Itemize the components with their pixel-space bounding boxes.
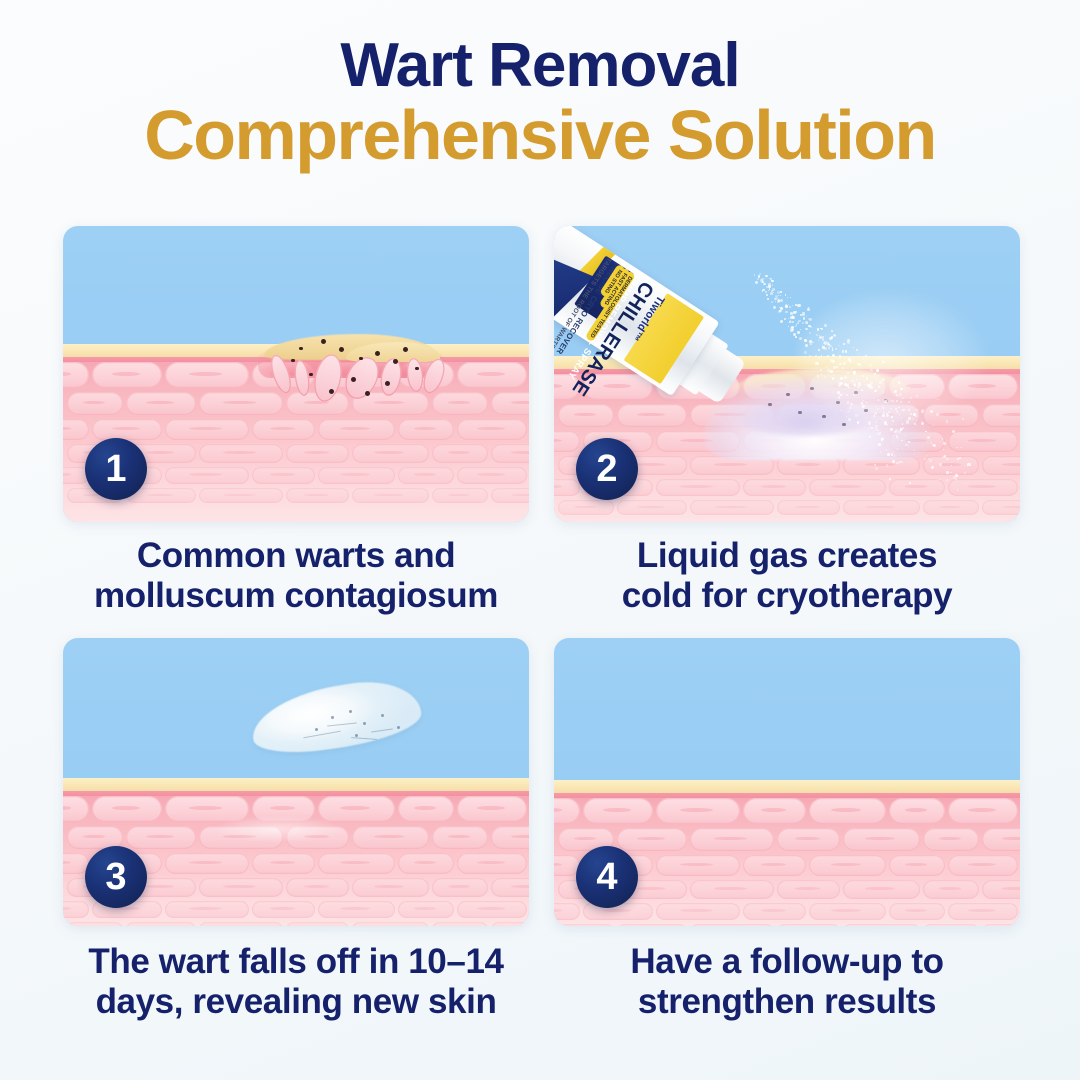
spray-particle — [896, 394, 898, 396]
spray-particle — [832, 377, 835, 380]
skin-cell — [398, 467, 454, 484]
skin-cell — [558, 500, 614, 515]
step-illustration-3: 3 — [63, 638, 529, 926]
spray-particle — [875, 467, 878, 470]
spray-particle — [762, 281, 764, 283]
spray-particle — [946, 420, 949, 423]
spray-particle — [878, 443, 881, 446]
skin-cell — [199, 444, 283, 463]
skin-cell — [617, 500, 687, 515]
spray-particle — [869, 364, 872, 367]
spray-particle — [883, 412, 885, 414]
skin-cell — [126, 392, 196, 415]
spray-particle — [840, 394, 842, 396]
spray-particle — [879, 408, 881, 410]
skin-cell — [252, 853, 315, 874]
steps-grid: 1 Common warts and molluscum contagiosum — [63, 226, 1020, 1022]
wart-capillary-dot — [359, 357, 363, 361]
spray-particle — [896, 400, 898, 402]
skin-cell — [432, 444, 488, 463]
skin-cell — [286, 878, 349, 897]
spray-particle — [897, 448, 898, 449]
spray-particle — [943, 449, 945, 451]
stratum-corneum-layer — [63, 778, 529, 791]
spray-particle — [858, 353, 859, 354]
spray-particle — [927, 436, 930, 439]
spray-particle — [773, 306, 776, 309]
skin-cell — [656, 479, 740, 496]
spray-particle — [937, 399, 938, 400]
skin-cell — [690, 500, 774, 515]
spray-particle — [908, 417, 911, 420]
skin-cell — [63, 901, 89, 918]
skin-cell — [809, 903, 886, 920]
skin-cell — [318, 796, 395, 822]
skin-cell — [352, 488, 429, 503]
spray-particle — [865, 355, 867, 357]
spray-particle — [890, 428, 893, 431]
wart-capillary-dot — [415, 367, 419, 371]
spray-particle — [847, 372, 849, 374]
spray-particle — [838, 384, 841, 387]
spray-particle — [791, 321, 793, 323]
scab-speck — [363, 722, 366, 725]
spray-particle — [878, 386, 880, 388]
spray-particle — [892, 460, 895, 463]
skin-cell — [491, 488, 529, 503]
skin-cell — [690, 924, 774, 926]
spray-particle — [910, 413, 912, 415]
spray-particle — [810, 343, 812, 345]
spray-particle — [757, 278, 759, 280]
skin-cell — [982, 880, 1020, 899]
spray-particle — [892, 420, 893, 421]
spray-particle — [901, 461, 903, 463]
spray-particle — [863, 400, 864, 401]
spray-particle — [762, 290, 763, 291]
wart-capillary-dot — [291, 359, 295, 363]
spray-particle — [858, 363, 861, 366]
spray-particle — [815, 362, 818, 365]
step-illustration-4: 4 — [554, 638, 1020, 926]
spray-particle — [802, 312, 805, 315]
spray-particle — [902, 409, 905, 412]
skin-cell — [63, 362, 89, 388]
skin-cell — [457, 901, 527, 918]
spray-particle — [809, 355, 811, 357]
skin-cell — [982, 828, 1020, 851]
spray-particle — [809, 332, 811, 334]
spray-particle — [842, 377, 843, 378]
skin-cell — [923, 880, 979, 899]
skin-cell — [318, 901, 395, 918]
spray-particle — [850, 403, 853, 406]
skin-cell — [558, 924, 614, 926]
skin-cell — [491, 922, 529, 926]
skin-cell — [199, 922, 283, 926]
spray-particle — [894, 431, 896, 433]
spray-particle — [838, 396, 841, 399]
step-number-badge-3: 3 — [85, 846, 147, 908]
spray-particle — [895, 408, 897, 410]
spray-particle — [967, 463, 970, 466]
scab-speck — [397, 726, 400, 729]
skin-cell — [554, 479, 580, 496]
skin-cell — [809, 798, 886, 824]
spray-particle — [884, 421, 887, 424]
skin-cell — [199, 488, 283, 503]
spray-particle — [929, 459, 932, 462]
spray-particle — [780, 320, 783, 323]
skin-cell — [126, 922, 196, 926]
skin-cell — [432, 826, 488, 849]
spray-particle — [959, 457, 961, 459]
spray-particle — [908, 409, 910, 411]
skin-cell-row — [67, 922, 529, 926]
spray-particle — [892, 400, 894, 402]
spray-particle — [851, 369, 853, 371]
spray-particle — [944, 455, 945, 456]
skin-cell — [948, 903, 1018, 920]
wart-capillary-dot — [329, 389, 334, 394]
spray-particle — [793, 311, 796, 314]
spray-particle — [875, 421, 877, 423]
scab-speck — [381, 714, 384, 717]
spray-particle — [847, 341, 850, 344]
spray-particle — [795, 325, 797, 327]
spray-particle — [873, 415, 875, 417]
spray-particle — [841, 410, 843, 412]
skin-cell — [398, 419, 454, 440]
spray-particle — [836, 366, 838, 368]
spray-particle — [890, 408, 892, 410]
spray-particle — [955, 479, 957, 481]
spray-particle — [817, 328, 819, 330]
spray-particle — [860, 367, 861, 368]
spray-particle — [914, 423, 916, 425]
spray-particle — [894, 390, 897, 393]
skin-cell — [889, 798, 945, 824]
spray-particle — [843, 343, 845, 345]
spray-particle — [967, 465, 968, 466]
spray-particle — [790, 297, 791, 298]
spray-particle — [866, 402, 867, 403]
skin-cell-row — [63, 419, 529, 440]
wart-capillary-dot — [299, 347, 303, 351]
spray-particle — [775, 295, 778, 298]
skin-cell — [923, 500, 979, 515]
spray-particle — [817, 375, 819, 377]
spray-particle — [874, 398, 875, 399]
skin-cell — [777, 500, 840, 515]
spray-particle — [906, 420, 909, 423]
skin-cell — [457, 853, 527, 874]
burst-rays-icon — [554, 288, 559, 335]
skin-cell — [67, 922, 123, 926]
wart-capillary-dot — [403, 347, 408, 352]
step-number-badge-4: 4 — [576, 846, 638, 908]
spray-particle — [916, 420, 917, 421]
skin-cell — [656, 903, 740, 920]
spray-particle — [946, 458, 948, 460]
spray-particle — [908, 401, 910, 403]
spray-particle — [869, 427, 870, 428]
spray-particle — [834, 375, 835, 376]
skin-cell — [318, 467, 395, 484]
spray-particle — [795, 336, 797, 338]
spray-particle — [829, 345, 832, 348]
skin-cell — [491, 392, 529, 415]
spray-particle — [952, 430, 955, 433]
skin-cell — [948, 798, 1018, 824]
skin-cell — [743, 903, 806, 920]
skin-cell-row — [554, 798, 1020, 824]
spray-particle — [843, 362, 846, 365]
skin-cell — [558, 404, 614, 427]
skin-cell — [63, 796, 89, 822]
spray-particle — [900, 401, 902, 403]
spray-particle — [912, 419, 913, 420]
title-line-secondary: Comprehensive Solution — [0, 99, 1080, 172]
spray-particle — [792, 329, 794, 331]
spray-particle — [887, 453, 890, 456]
spray-particle — [874, 464, 876, 466]
spray-particle — [879, 381, 882, 384]
spray-particle — [853, 394, 855, 396]
skin-cell — [982, 924, 1020, 926]
wart-capillary-dot — [309, 373, 313, 377]
skin-cell — [656, 855, 740, 876]
step-card-4: 4 Have a follow-up to strengthen results — [554, 638, 1020, 1022]
skin-cell — [165, 419, 249, 440]
title-line-primary: Wart Removal — [0, 34, 1080, 97]
spray-particle — [886, 464, 889, 467]
spray-particle — [764, 278, 765, 279]
spray-particle — [844, 357, 845, 358]
skin-cell — [126, 826, 196, 849]
skin-cell — [491, 878, 529, 897]
spray-particle — [880, 432, 881, 433]
spray-particle — [813, 342, 814, 343]
spray-particle — [913, 450, 915, 452]
skin-cell — [398, 901, 454, 918]
spray-particle — [853, 372, 856, 375]
skin-cell — [318, 853, 395, 874]
skin-cell — [843, 880, 920, 899]
stratum-corneum-layer — [554, 780, 1020, 793]
spray-particle — [848, 418, 851, 421]
spray-particle — [862, 405, 866, 409]
step-caption-3: The wart falls off in 10–14 days, reveal… — [63, 942, 529, 1022]
spray-particle — [822, 338, 825, 341]
spray-particle — [805, 328, 807, 330]
spray-particle — [916, 395, 918, 397]
spray-particle — [824, 324, 827, 327]
step-illustration-2: Tiworld™ CHILLERASE BUMP REMOVAL SPRAY P… — [554, 226, 1020, 522]
skin-cell — [777, 924, 840, 926]
spray-particle — [901, 440, 903, 442]
spray-particle — [862, 375, 865, 378]
spray-particle — [823, 342, 825, 344]
spray-particle — [966, 483, 967, 484]
skin-cell — [982, 500, 1020, 515]
spray-particle — [830, 359, 833, 362]
spray-particle — [785, 305, 788, 308]
spray-particle — [854, 384, 856, 386]
spray-particle — [845, 350, 848, 353]
spray-particle — [853, 380, 856, 383]
spray-particle — [807, 323, 808, 324]
spray-particle — [893, 451, 894, 452]
spray-particle — [909, 482, 911, 484]
spray-particle — [832, 347, 833, 348]
spray-particle — [925, 431, 927, 433]
spray-particle — [876, 389, 877, 390]
skin-cell — [656, 798, 740, 824]
spray-particle — [797, 304, 800, 307]
spray-particle — [956, 447, 957, 448]
spray-particle — [790, 320, 791, 321]
skin-cell — [318, 419, 395, 440]
skin-cell — [199, 878, 283, 897]
spray-particle — [900, 428, 902, 430]
spray-particle — [882, 391, 884, 393]
spray-particle — [862, 365, 863, 366]
skin-cell — [432, 488, 488, 503]
wart-capillary-dot — [393, 359, 398, 364]
skin-cell — [617, 924, 687, 926]
page-title: Wart Removal Comprehensive Solution — [0, 0, 1080, 172]
skin-cell — [92, 419, 162, 440]
skin-cell — [491, 444, 529, 463]
spray-particle — [828, 366, 829, 367]
spray-particle — [764, 283, 766, 285]
skin-cell — [743, 798, 806, 824]
skin-cell — [777, 880, 840, 899]
spray-particle — [800, 329, 802, 331]
spray-particle — [869, 383, 872, 386]
spray-particle — [916, 409, 918, 411]
spray-particle — [819, 357, 820, 358]
spray-particle — [807, 308, 810, 311]
spray-particle — [824, 376, 826, 378]
skin-cell — [398, 853, 454, 874]
spray-particle — [815, 355, 817, 357]
spray-particle — [936, 413, 939, 416]
spray-particle — [950, 472, 952, 474]
skin-cell — [690, 828, 774, 851]
step-card-1: 1 Common warts and molluscum contagiosum — [63, 226, 529, 616]
spray-particle — [839, 363, 841, 365]
spray-particle — [799, 337, 802, 340]
spray-particle — [882, 378, 885, 381]
step-caption-2: Liquid gas creates cold for cryotherapy — [554, 536, 1020, 616]
spray-particle — [960, 447, 962, 449]
spray-particle — [848, 411, 849, 412]
spray-particle — [855, 414, 858, 417]
skin-cell — [352, 444, 429, 463]
spray-particle — [846, 394, 848, 396]
spray-particle — [771, 301, 773, 303]
spray-particle — [866, 393, 868, 395]
skin-cell — [843, 500, 920, 515]
spray-particle — [766, 294, 768, 296]
spray-particle — [792, 305, 794, 307]
wart-capillary-dot — [339, 347, 344, 352]
skin-cell — [457, 362, 527, 388]
spray-particle — [866, 377, 869, 380]
skin-cell — [165, 362, 249, 388]
spray-particle — [755, 281, 758, 284]
spray-particle — [772, 284, 774, 286]
scab-speck — [315, 728, 318, 731]
spray-particle — [775, 301, 776, 302]
spray-particle — [868, 421, 872, 425]
scab-speck — [355, 734, 358, 737]
spray-particle — [891, 453, 894, 456]
skin-cell — [165, 467, 249, 484]
spray-particle — [886, 449, 888, 451]
skin-cell — [617, 404, 687, 427]
spray-particle — [778, 310, 781, 313]
wart-capillary-dot — [375, 351, 380, 356]
spray-particle — [964, 472, 966, 474]
spray-particle — [882, 407, 885, 410]
skin-cell — [252, 419, 315, 440]
skin-cell — [165, 853, 249, 874]
spray-particle — [839, 355, 841, 357]
spray-particle — [831, 330, 833, 332]
spray-particle — [821, 355, 822, 356]
spray-particle — [758, 275, 761, 278]
spray-particle — [802, 322, 804, 324]
spray-particle — [850, 407, 852, 409]
skin-cell-row — [558, 924, 1020, 926]
spray-particle — [910, 397, 912, 399]
spray-particle — [844, 376, 847, 379]
spray-particle — [957, 489, 958, 490]
spray-particle — [842, 367, 844, 369]
spray-particle — [788, 304, 789, 305]
skin-cell-row — [558, 828, 1020, 851]
skin-cell — [554, 903, 580, 920]
spray-particle — [939, 479, 940, 480]
skin-cell — [352, 826, 429, 849]
skin-cell — [457, 419, 527, 440]
spray-particle — [908, 446, 910, 448]
spray-particle — [951, 465, 952, 466]
spray-particle — [809, 318, 812, 321]
skin-cell — [843, 924, 920, 926]
step-card-3: 3 The wart falls off in 10–14 days, reve… — [63, 638, 529, 1022]
spray-particle — [804, 351, 807, 354]
step-card-2: Tiworld™ CHILLERASE BUMP REMOVAL SPRAY P… — [554, 226, 1020, 616]
spray-particle — [882, 414, 885, 417]
skin-cell — [617, 828, 687, 851]
spray-particle — [888, 411, 890, 413]
spray-particle — [871, 427, 873, 429]
spray-particle — [898, 407, 899, 408]
wart-capillary-dot — [351, 377, 356, 382]
spray-particle — [900, 388, 902, 390]
skin-cell — [554, 431, 580, 452]
skin-cell — [432, 922, 488, 926]
spray-particle — [880, 452, 881, 453]
spray-particle — [962, 418, 964, 420]
spray-particle — [891, 377, 892, 378]
spray-particle — [898, 381, 901, 384]
skin-cell — [948, 855, 1018, 876]
